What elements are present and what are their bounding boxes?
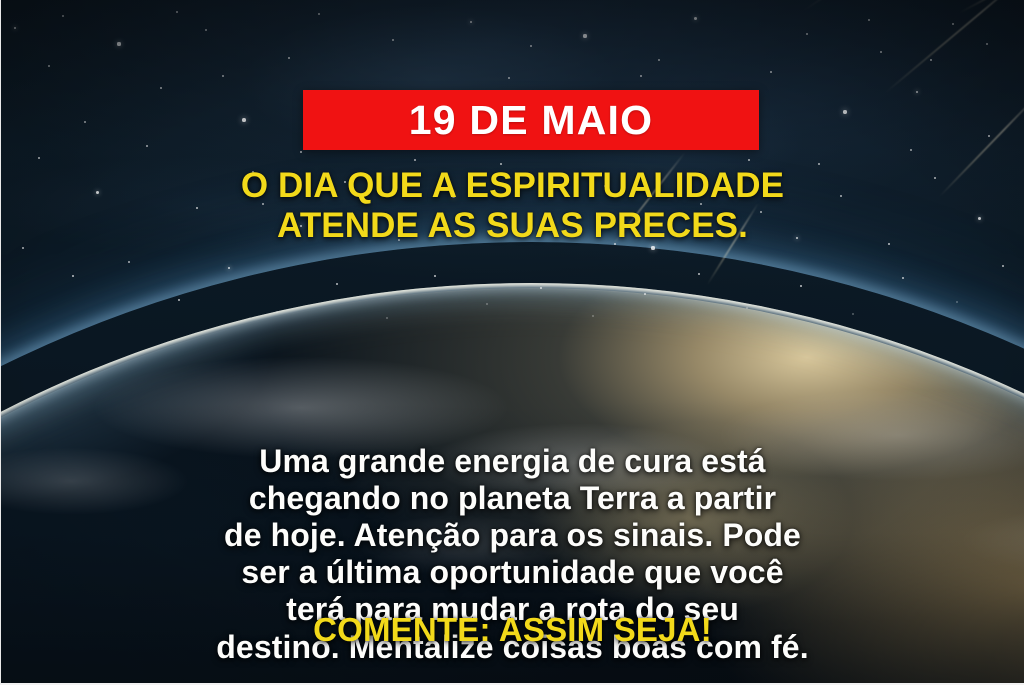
date-banner: 19 DE MAIO xyxy=(303,90,759,150)
headline-line-1: O DIA QUE A ESPIRITUALIDADE xyxy=(41,166,984,206)
poster-content: 19 DE MAIO O DIA QUE A ESPIRITUALIDADE A… xyxy=(1,0,1024,683)
body-line-2: chegando no planeta Terra a partir xyxy=(27,480,998,517)
headline: O DIA QUE A ESPIRITUALIDADE ATENDE AS SU… xyxy=(1,166,1024,246)
body-line-4: ser a última oportunidade que você xyxy=(27,554,998,591)
body-line-1: Uma grande energia de cura está xyxy=(27,443,998,480)
date-banner-label: 19 DE MAIO xyxy=(409,100,653,141)
poster-canvas: 19 DE MAIO O DIA QUE A ESPIRITUALIDADE A… xyxy=(0,0,1024,685)
body-line-3: de hoje. Atenção para os sinais. Pode xyxy=(27,517,998,554)
headline-line-2: ATENDE AS SUAS PRECES. xyxy=(41,206,984,246)
call-to-action-label: COMENTE: ASSIM SEJA! xyxy=(1,613,1024,646)
